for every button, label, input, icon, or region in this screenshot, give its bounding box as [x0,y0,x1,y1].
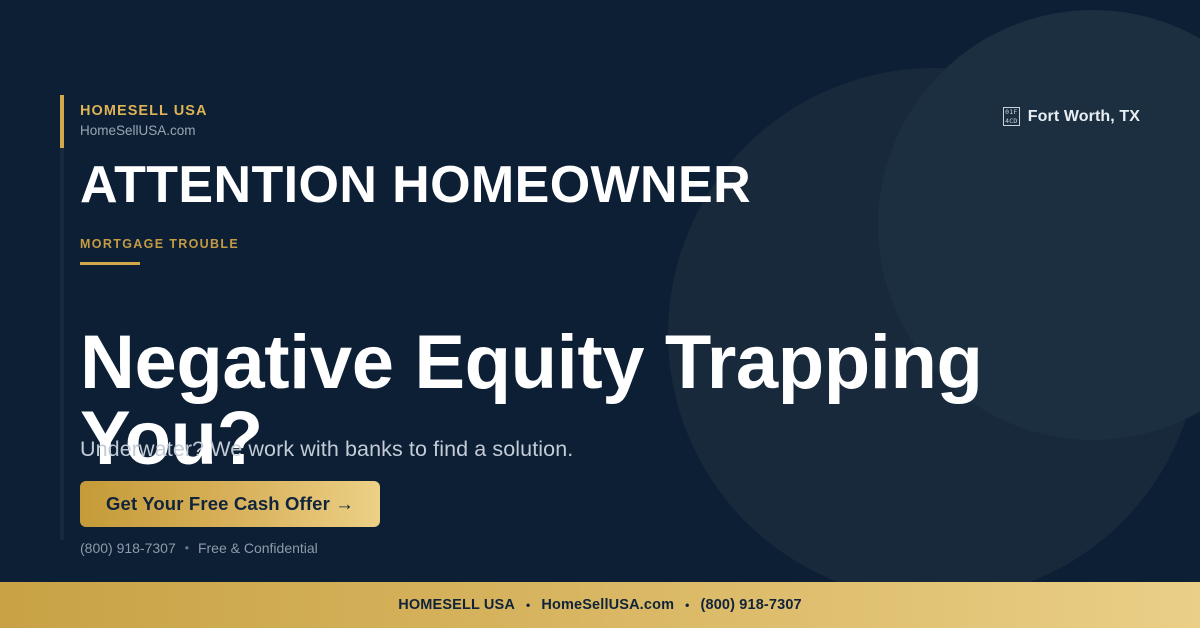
footer-phone[interactable]: (800) 918-7307 [701,597,802,613]
contact-phone[interactable]: (800) 918-7307 [80,541,176,555]
brand-row: HOMESELL USA HomeSellUSA.com 01F 4CD For… [80,104,1140,137]
left-rail-line [60,95,64,540]
brand-block: HOMESELL USA HomeSellUSA.com [80,104,208,137]
footer-website[interactable]: HomeSellUSA.com [541,597,674,613]
location-badge: 01F 4CD Fort Worth, TX [1003,107,1140,126]
footer-brand: HOMESELL USA [398,597,515,613]
contact-separator: • [185,542,189,554]
contact-note: Free & Confidential [198,541,318,555]
ad-creative: HOMESELL USA HomeSellUSA.com 01F 4CD For… [0,0,1200,628]
location-label: Fort Worth, TX [1028,108,1140,126]
map-pin-icon-codepoint-bottom: 4CD [1005,117,1017,125]
footer-separator-two: • [685,598,689,612]
eyebrow-rule [80,262,140,265]
footer-bar: HOMESELL USA • HomeSellUSA.com • (800) 9… [0,582,1200,628]
content-area: HOMESELL USA HomeSellUSA.com 01F 4CD For… [80,0,1150,628]
left-rail-gold-accent [60,95,64,148]
footer-separator-one: • [526,598,530,612]
map-pin-icon-codepoint-top: 01F [1005,108,1017,116]
get-free-cash-offer-button[interactable]: Get Your Free Cash Offer → [80,481,380,527]
kicker-headline: ATTENTION HOMEOWNER [80,159,751,211]
contact-line: (800) 918-7307 • Free & Confidential [80,541,318,555]
subheadline: Underwater? We work with banks to find a… [80,436,573,464]
brand-name: HOMESELL USA [80,104,208,119]
eyebrow-label: MORTGAGE TROUBLE [80,238,239,251]
brand-website: HomeSellUSA.com [80,124,208,138]
map-pin-icon: 01F 4CD [1003,107,1020,126]
